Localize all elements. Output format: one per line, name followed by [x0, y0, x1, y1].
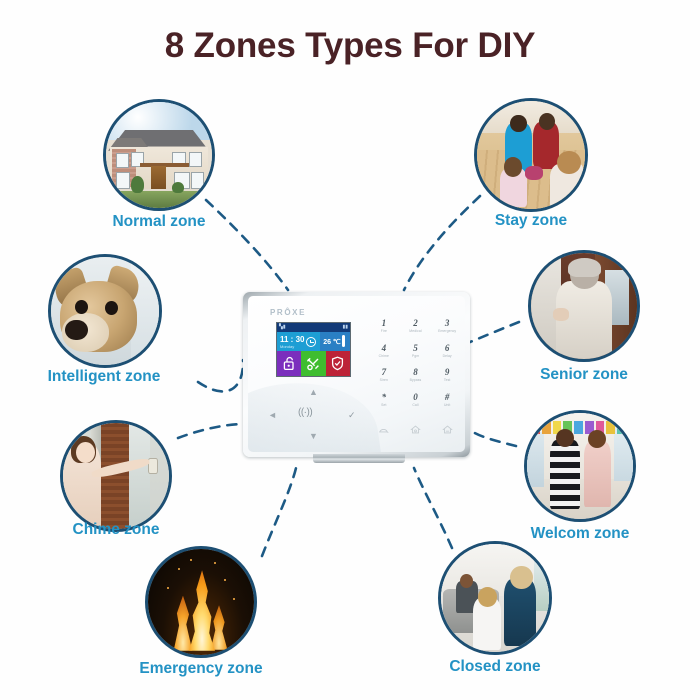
key-3[interactable]: 3 Emergency [431, 318, 463, 343]
key-7-number: 7 [368, 367, 400, 378]
key-9-sublabel: Test [431, 378, 463, 383]
key-5-number: 5 [400, 343, 432, 354]
lcd-temp-panel: 26 ℃ [320, 332, 350, 351]
key-9-number: 9 [431, 367, 463, 378]
lcd-tile-disarm[interactable] [277, 351, 301, 376]
key-3-number: 3 [431, 318, 463, 329]
zone-normal-image[interactable] [103, 99, 215, 211]
zone-intelligent-label: Intelligent zone [28, 368, 180, 386]
key-2-number: 2 [400, 318, 432, 329]
home-stay-icon[interactable] [410, 424, 421, 435]
navigation-cluster[interactable]: ▲ ▼ ◄ ✓ ((·)) [264, 388, 360, 442]
nav-up-button[interactable]: ▲ [309, 388, 318, 397]
lcd-tile-alarm[interactable] [326, 351, 350, 376]
device-brand-logo: PRÔXE [270, 308, 306, 317]
key-star[interactable]: * Set [368, 392, 400, 417]
wireless-signal-icon[interactable]: ((·)) [298, 408, 312, 417]
key-hash-number: # [431, 392, 463, 403]
connector-closed [414, 468, 452, 548]
lcd-tile-setup[interactable] [301, 351, 325, 376]
zone-closed-label: Closed zone [419, 658, 571, 676]
device-bezel: PRÔXE ▚▮ ▮▮ 11 : 30 Monday 2 [243, 292, 470, 457]
lcd-display: ▚▮ ▮▮ 11 : 30 Monday 26 ℃ [276, 322, 351, 377]
infographic-canvas: 8 Zones Types For DIY [0, 0, 700, 700]
key-7-sublabel: Siren [368, 378, 400, 383]
zone-closed-image[interactable] [438, 541, 552, 655]
connector-stay [404, 196, 480, 290]
key-9[interactable]: 9 Test [431, 367, 463, 392]
key-6[interactable]: 6 Delay [431, 343, 463, 368]
connector-intelligent [198, 360, 243, 391]
connector-welcome [470, 430, 516, 446]
function-key-row[interactable] [368, 420, 463, 438]
zone-chime-label: Chime zone [40, 521, 192, 539]
key-0-number: 0 [400, 392, 432, 403]
zone-welcome-label: Welcom zone [504, 525, 656, 543]
tools-icon [306, 357, 320, 371]
nav-left-button[interactable]: ◄ [268, 411, 277, 420]
zone-senior-label: Senior zone [508, 366, 660, 384]
lcd-date-value: Monday [280, 344, 294, 349]
key-0[interactable]: 0 Call [400, 392, 432, 417]
lcd-temp-value: 26 ℃ [323, 338, 341, 346]
key-4[interactable]: 4 Chime [368, 343, 400, 368]
home-away-icon[interactable] [442, 424, 453, 435]
connector-senior [470, 322, 519, 342]
zone-chime-image[interactable] [60, 420, 172, 532]
key-0-sublabel: Call [400, 403, 432, 408]
key-2[interactable]: 2 Medical [400, 318, 432, 343]
zone-stay-label: Stay zone [455, 212, 607, 230]
key-1-number: 1 [368, 318, 400, 329]
thermometer-icon [342, 335, 345, 347]
device-front-face: PRÔXE ▚▮ ▮▮ 11 : 30 Monday 2 [248, 296, 465, 452]
unlock-icon [283, 356, 296, 371]
key-4-sublabel: Chime [368, 354, 400, 359]
key-star-sublabel: Set [368, 403, 400, 408]
key-1[interactable]: 1 Fire [368, 318, 400, 343]
key-6-number: 6 [431, 343, 463, 354]
lcd-mode-tiles [277, 351, 350, 376]
zone-welcome-image[interactable] [524, 410, 636, 522]
signal-icon: ▚▮ [279, 323, 286, 332]
lcd-time-value: 11 : 30 [280, 335, 304, 344]
disarm-icon[interactable] [378, 424, 389, 435]
connector-chime [178, 424, 244, 438]
zone-intelligent-image[interactable] [48, 254, 162, 368]
zone-normal-label: Normal zone [83, 213, 235, 231]
bars-icon: ▮▮ [342, 323, 348, 332]
zone-emergency-image[interactable] [145, 546, 257, 658]
key-hash[interactable]: # Unit [431, 392, 463, 417]
key-8[interactable]: 8 Bypass [400, 367, 432, 392]
zone-stay-image[interactable] [474, 98, 588, 212]
key-8-number: 8 [400, 367, 432, 378]
zone-senior-image[interactable] [528, 250, 640, 362]
key-1-sublabel: Fire [368, 329, 400, 334]
key-6-sublabel: Delay [431, 354, 463, 359]
clock-icon [306, 337, 316, 347]
zone-emergency-label: Emergency zone [125, 660, 277, 678]
lcd-status-bar: ▚▮ ▮▮ [277, 323, 350, 332]
key-5-sublabel: Pgm [400, 354, 432, 359]
key-8-sublabel: Bypass [400, 378, 432, 383]
lcd-time-panel: 11 : 30 Monday [277, 332, 320, 351]
numeric-keypad[interactable]: 1 Fire 2 Medical 3 Emergency 4 Chime [368, 318, 463, 416]
key-5[interactable]: 5 Pgm [400, 343, 432, 368]
nav-confirm-button[interactable]: ✓ [348, 411, 356, 420]
shield-icon [331, 356, 344, 371]
device-stand [313, 454, 405, 463]
key-2-sublabel: Medical [400, 329, 432, 334]
alarm-control-panel[interactable]: PRÔXE ▚▮ ▮▮ 11 : 30 Monday 2 [243, 292, 470, 467]
key-3-sublabel: Emergency [431, 329, 463, 334]
key-hash-sublabel: Unit [431, 403, 463, 408]
key-star-number: * [368, 392, 400, 403]
nav-down-button[interactable]: ▼ [309, 432, 318, 441]
key-7[interactable]: 7 Siren [368, 367, 400, 392]
key-4-number: 4 [368, 343, 400, 354]
connector-emergency [262, 468, 296, 556]
